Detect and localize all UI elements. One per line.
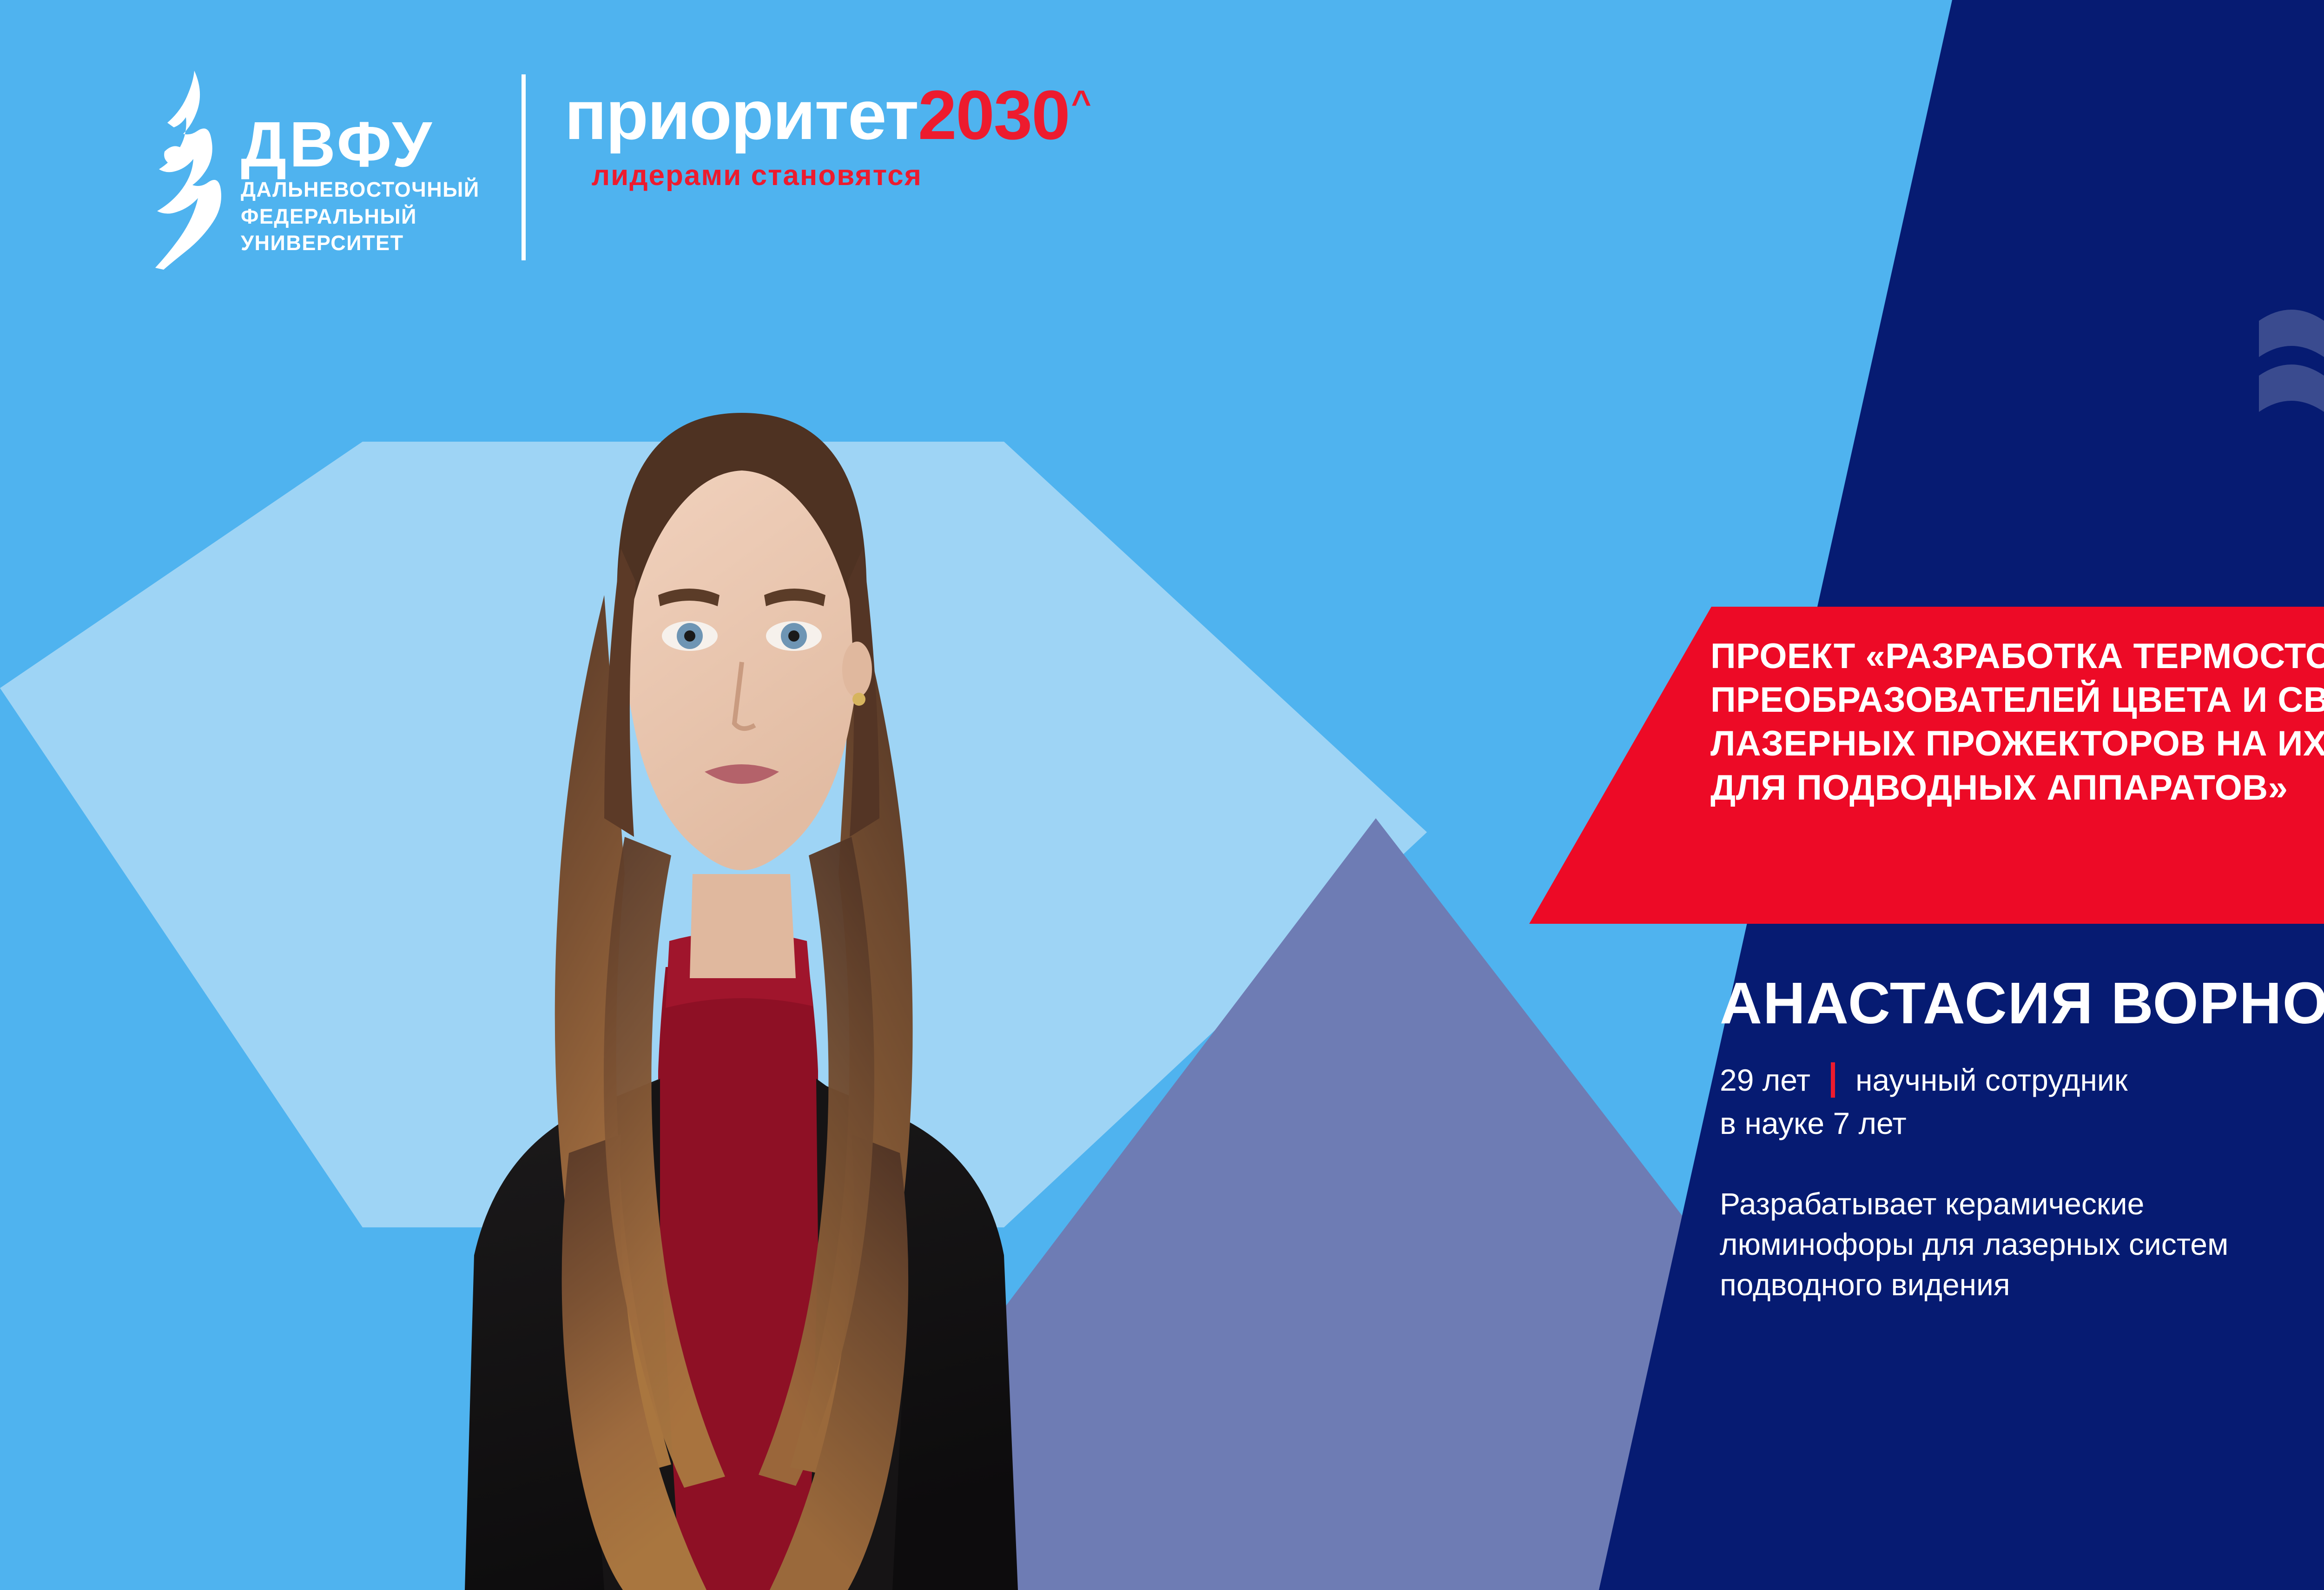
priority-2030-logo: приоритет 2030 ^ лидерами становятся bbox=[565, 70, 1091, 192]
project-title-line-3: ЛАЗЕРНЫХ ПРОЖЕКТОРОВ НА ИХ ОСНОВЕ bbox=[1710, 722, 2324, 766]
description-line-2: люминофоры для лазерных систем bbox=[1720, 1224, 2324, 1265]
project-title-banner: ПРОЕКТ «РАЗРАБОТКА ТЕРМОСТОЙКИХ ПРЕОБРАЗ… bbox=[1529, 607, 2324, 924]
project-title-line-4: ДЛЯ ПОДВОДНЫХ АППАРАТОВ» bbox=[1710, 766, 2324, 810]
person-age: 29 лет bbox=[1720, 1061, 1810, 1099]
priority-year: 2030 bbox=[918, 83, 1070, 147]
project-title-line-2: ПРЕОБРАЗОВАТЕЛЕЙ ЦВЕТА И СВЕРХЪЯРКИХ bbox=[1710, 678, 2324, 722]
mountain-waves-icon bbox=[2203, 88, 2324, 456]
person-role: научный сотрудник bbox=[1855, 1061, 2128, 1099]
dvfu-fullname-line3: УНИВЕРСИТЕТ bbox=[241, 230, 480, 257]
caret-up-icon: ^ bbox=[1071, 86, 1091, 120]
person-info: АНАСТАСИЯ ВОРНОВСКИХ 29 лет научный сотр… bbox=[1720, 974, 2324, 1305]
dvfu-fullname-line1: ДАЛЬНЕВОСТОЧНЫЙ bbox=[241, 176, 480, 203]
priority-tagline: лидерами становятся bbox=[592, 159, 1091, 192]
description-line-1: Разрабатывает керамические bbox=[1720, 1184, 2324, 1224]
turtleneck bbox=[658, 967, 818, 1590]
person-name: АНАСТАСИЯ ВОРНОВСКИХ bbox=[1720, 974, 2324, 1033]
pupil-right bbox=[788, 630, 799, 642]
meta-separator-icon bbox=[1831, 1062, 1835, 1098]
person-experience: в науке 7 лет bbox=[1720, 1105, 2324, 1142]
vertical-divider bbox=[522, 74, 526, 260]
project-title-text: ПРОЕКТ «РАЗРАБОТКА ТЕРМОСТОЙКИХ ПРЕОБРАЗ… bbox=[1710, 635, 2324, 810]
dvfu-wordmark: ДВФУ ДАЛЬНЕВОСТОЧНЫЙ ФЕДЕРАЛЬНЫЙ УНИВЕРС… bbox=[241, 70, 480, 257]
dvfu-fullname-line2: ФЕДЕРАЛЬНЫЙ bbox=[241, 203, 480, 230]
portrait-photo bbox=[325, 316, 1143, 1590]
ear-right bbox=[842, 642, 872, 697]
dvfu-logo: ДВФУ ДАЛЬНЕВОСТОЧНЫЙ ФЕДЕРАЛЬНЫЙ УНИВЕРС… bbox=[144, 70, 480, 270]
neck bbox=[690, 874, 796, 978]
dvfu-abbreviation: ДВФУ bbox=[241, 113, 480, 176]
person-description: Разрабатывает керамические люминофоры дл… bbox=[1720, 1184, 2324, 1305]
description-line-3: подводного видения bbox=[1720, 1265, 2324, 1305]
person-meta-row: 29 лет научный сотрудник bbox=[1720, 1061, 2324, 1099]
logo-lockup: ДВФУ ДАЛЬНЕВОСТОЧНЫЙ ФЕДЕРАЛЬНЫЙ УНИВЕРС… bbox=[144, 70, 1091, 270]
priority-word: приоритет bbox=[565, 83, 918, 147]
promo-banner: ДВФУ ДАЛЬНЕВОСТОЧНЫЙ ФЕДЕРАЛЬНЫЙ УНИВЕРС… bbox=[0, 0, 2324, 1590]
torch-flame-icon bbox=[144, 70, 232, 270]
project-title-line-1: ПРОЕКТ «РАЗРАБОТКА ТЕРМОСТОЙКИХ bbox=[1710, 635, 2324, 678]
pupil-left bbox=[684, 630, 695, 642]
earring bbox=[852, 693, 865, 706]
